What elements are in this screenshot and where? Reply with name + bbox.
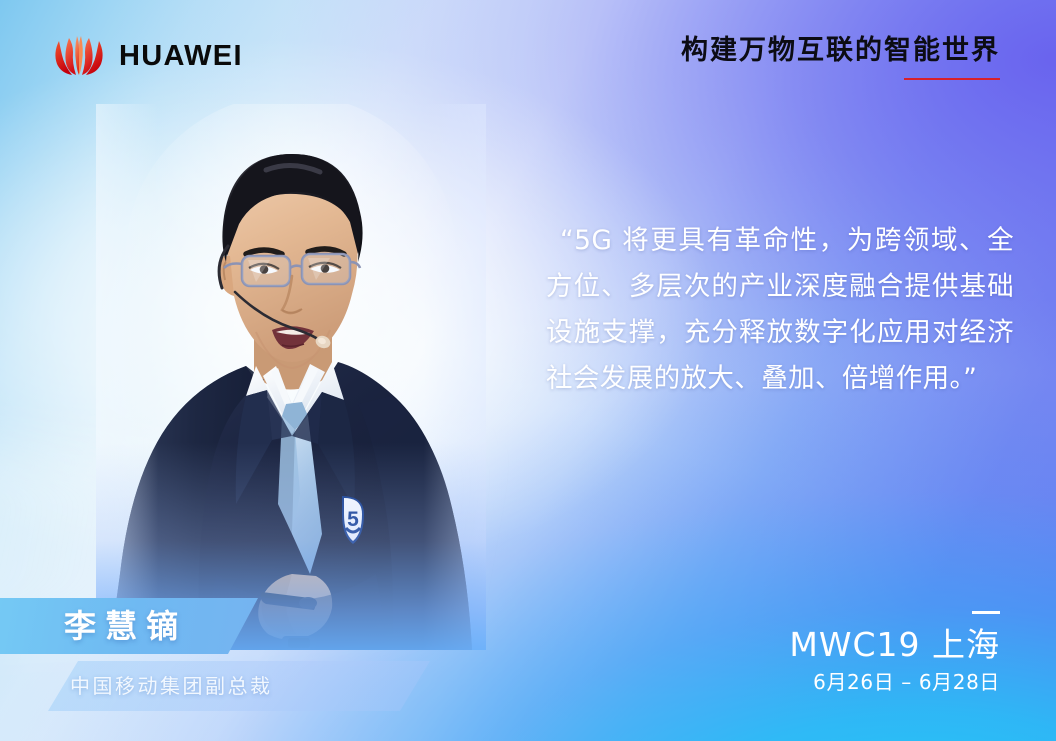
huawei-brand-lockup: HUAWEI: [52, 35, 243, 77]
poster-header: HUAWEI 构建万物互联的智能世界: [0, 0, 1056, 100]
event-divider-dash: [972, 611, 1000, 614]
huawei-flower-logo-icon: [52, 35, 106, 77]
speaker-portrait-illustration: 5: [96, 104, 486, 650]
svg-text:5: 5: [347, 508, 359, 531]
huawei-mwc19-quote-card: 5: [0, 0, 1056, 741]
event-date: 6月26日 – 6月28日: [789, 671, 1000, 693]
quote-block: “5G 将更具有革命性，为跨领域、全方位、多层次的产业深度融合提供基础设施支撑，…: [546, 218, 1014, 402]
headline-text: 构建万物互联的智能世界: [681, 36, 1000, 66]
speaker-photo: 5: [96, 104, 486, 650]
event-block: MWC19 上海 6月26日 – 6月28日: [789, 611, 1000, 693]
quote-text: “5G 将更具有革命性，为跨领域、全方位、多层次的产业深度融合提供基础设施支撑，…: [546, 225, 1014, 394]
huawei-brand-name: HUAWEI: [119, 42, 243, 71]
headline-red-underline: [904, 78, 1000, 80]
speaker-title: 中国移动集团副总裁: [70, 662, 273, 710]
event-name: MWC19 上海: [789, 628, 1000, 663]
speaker-name: 李慧镝: [64, 600, 187, 652]
headline-block: 构建万物互联的智能世界: [681, 36, 1000, 80]
